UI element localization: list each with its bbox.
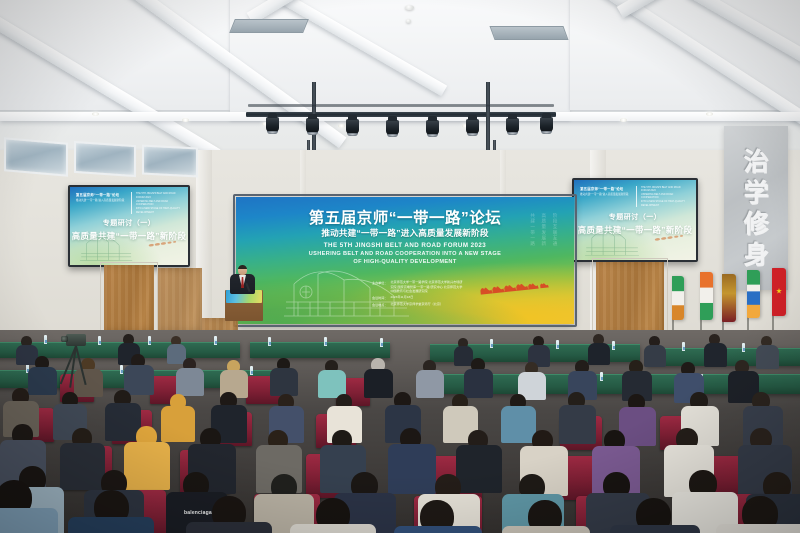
water-bottle: [44, 335, 47, 344]
wall-calligraphy-panel: 治 学 修 身: [724, 126, 788, 290]
info-value: 北京师范大学一带一路学院 北京师范大学新兴市场研究院 国家高端智库“一带一路”研…: [390, 280, 464, 293]
screen-subtitle-cn: 推动共建“一带一路”进入高质量发展新阶段: [580, 192, 629, 196]
conference-hall-photo: 第五届京师“一带一路”论坛 推动共建“一带一路”进入高质量发展新阶段 THE 5…: [0, 0, 800, 533]
national-flag: [722, 274, 736, 322]
speaker-head: [238, 265, 247, 275]
water-bottle: [214, 336, 217, 345]
desk-row: [250, 342, 390, 358]
stage-light: [306, 118, 319, 133]
ceiling-vent: [489, 26, 568, 40]
info-row: 主办单位： 北京师范大学一带一路学院 北京师范大学新兴市场研究院 国家高端智库“…: [372, 280, 464, 293]
screen-header: 第五届京师“一带一路”论坛 推动共建“一带一路”进入高质量发展新阶段 THE 5…: [76, 192, 182, 214]
screen-title-en: THE 5TH JINGSHI BELT AND ROAD FORUM 2023: [641, 186, 690, 193]
water-bottle: [98, 336, 101, 345]
screen-title-cn: 第五届京师“一带一路”论坛: [580, 186, 629, 191]
bridge-line-art-icon: [584, 225, 640, 257]
water-bottle: [380, 338, 383, 347]
stage-light: [540, 117, 553, 132]
national-flag: [672, 276, 684, 320]
water-bottle: [120, 365, 123, 374]
clerestory-window: [142, 145, 198, 178]
info-key: 会议地点：: [372, 302, 387, 307]
info-key: 会议时间：: [372, 295, 387, 300]
water-bottle: [324, 337, 327, 346]
banner-vertical-col: 共建一带一路: [529, 213, 535, 247]
ceiling-vent: [229, 19, 309, 33]
smoke-detector-icon: [405, 5, 414, 10]
water-bottle: [268, 337, 271, 346]
water-bottle: [742, 343, 745, 352]
screen-subtitle-cn: 推动共建“一带一路”进入高质量发展新阶段: [76, 198, 124, 202]
stage-light: [426, 120, 439, 135]
session-line-1: 专题研讨（一）: [574, 212, 696, 222]
left-display-screen: 第五届京师“一带一路”论坛 推动共建“一带一路”进入高质量发展新阶段 THE 5…: [68, 185, 190, 267]
calligraphy-char: 身: [743, 242, 768, 267]
banner-vertical-text: 共建一带一路 高质量发展新 阶段互联互通: [529, 213, 558, 247]
door-frame-left: [100, 262, 158, 332]
calligraphy-char: 治: [743, 149, 768, 174]
info-key: 主办单位：: [372, 280, 387, 285]
door-frame-right: [592, 258, 668, 336]
bridge-line-art-icon: [79, 231, 133, 262]
screen-subtitle-en-2: INTO A NEW STAGE OF HIGH-QUALITY DEVELOP…: [136, 207, 182, 214]
clerestory-window: [4, 137, 68, 177]
screen-title-cn: 第五届京师“一带一路”论坛: [76, 192, 124, 197]
banner-info-block: 主办单位： 北京师范大学一带一路学院 北京师范大学新兴市场研究院 国家高端智库“…: [372, 280, 464, 308]
screen-header: 第五届京师“一带一路”论坛 推动共建“一带一路”进入高质量发展新阶段 THE 5…: [580, 186, 690, 208]
info-value: 北京师范大学京师学堂京师厅（北京）: [390, 302, 443, 306]
stage-light: [466, 119, 479, 134]
main-stage-banner: 第五届京师“一带一路”论坛 推动共建“一带一路”进入高质量发展新阶段 THE 5…: [236, 197, 574, 324]
stage-light: [346, 119, 359, 134]
water-bottle: [612, 341, 615, 350]
stage-light: [386, 120, 399, 135]
screen-subtitle-en-1: USHERING BELT AND ROAD COOPERATION: [136, 200, 182, 207]
session-line-1: 专题研讨（一）: [70, 218, 188, 228]
water-bottle: [148, 336, 151, 345]
banner-subtitle-en-1: USHERING BELT AND ROAD COOPERATION INTO …: [236, 251, 574, 257]
banner-vertical-col: 高质量发展新: [541, 213, 547, 247]
calligraphy-char: 学: [743, 180, 768, 205]
banner-subtitle-cn: 推动共建“一带一路”进入高质量发展新阶段: [236, 227, 574, 239]
screen-title-en: THE 5TH JINGSHI BELT AND ROAD FORUM 2023: [136, 192, 182, 199]
info-row: 会议时间： 2023年11月18日: [372, 295, 464, 300]
national-flag: [700, 272, 713, 320]
water-bottle: [556, 340, 559, 349]
water-bottle: [250, 366, 253, 375]
stage-light: [266, 117, 279, 132]
info-value: 2023年11月18日: [390, 295, 413, 299]
wooden-panel-center: [158, 268, 202, 330]
banner-title-en: THE 5TH JINGSHI BELT AND ROAD FORUM 2023: [236, 242, 574, 249]
camel-caravan-icon: [477, 274, 552, 296]
banner-title-cn: 第五届京师“一带一路”论坛: [236, 206, 574, 228]
right-display-screen: 第五届京师“一带一路”论坛 推动共建“一带一路”进入高质量发展新阶段 THE 5…: [572, 178, 698, 262]
water-bottle: [600, 372, 603, 381]
banner-vertical-col: 阶段互联互通: [552, 213, 558, 247]
calligraphy-char: 修: [743, 211, 768, 236]
water-bottle: [490, 339, 493, 348]
screen-subtitle-en-1: USHERING BELT AND ROAD COOPERATION: [641, 193, 690, 200]
screen-subtitle-en-2: INTO A NEW STAGE OF HIGH-QUALITY DEVELOP…: [641, 200, 690, 207]
info-row: 会议地点： 北京师范大学京师学堂京师厅（北京）: [372, 302, 464, 307]
stage-light: [506, 118, 519, 133]
water-bottle: [682, 342, 685, 351]
clerestory-window: [74, 141, 136, 177]
audience-area: balenciaga: [0, 330, 800, 533]
smoke-detector-icon: [406, 19, 411, 23]
national-flag: [747, 270, 760, 318]
jacket-logo-text: balenciaga: [184, 510, 212, 516]
